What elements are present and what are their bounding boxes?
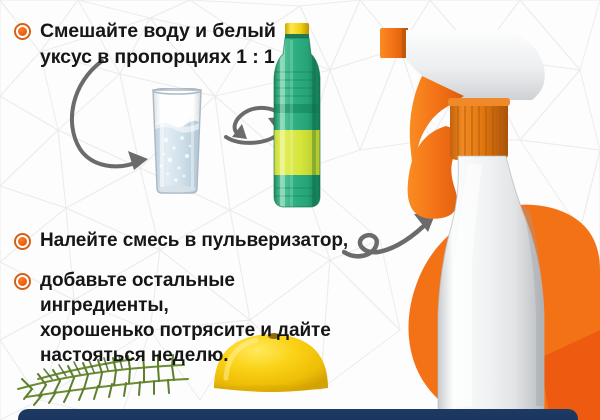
step-3-text-block: добавьте остальные ингредиенты, хорошень…	[14, 268, 364, 368]
orange-dot-bullet-icon	[14, 273, 31, 290]
orange-dot-bullet-icon	[14, 23, 31, 40]
glass-of-water-image	[146, 88, 208, 196]
infographic-canvas: Смешайте воду и белый уксус в пропорциях…	[0, 0, 600, 420]
step-2-text: Налейте смесь в пульверизатор,	[40, 228, 348, 253]
step-3-text: добавьте остальные ингредиенты, хорошень…	[40, 268, 364, 368]
step-1-text-block: Смешайте воду и белый уксус в пропорциях…	[14, 18, 314, 70]
step-1-text: Смешайте воду и белый уксус в пропорциях…	[40, 18, 276, 70]
orange-dot-bullet-icon	[14, 233, 31, 250]
step-2-text-block: Налейте смесь в пульверизатор,	[14, 228, 354, 253]
footer-bar	[18, 409, 578, 420]
spray-bottle-image	[372, 14, 600, 414]
